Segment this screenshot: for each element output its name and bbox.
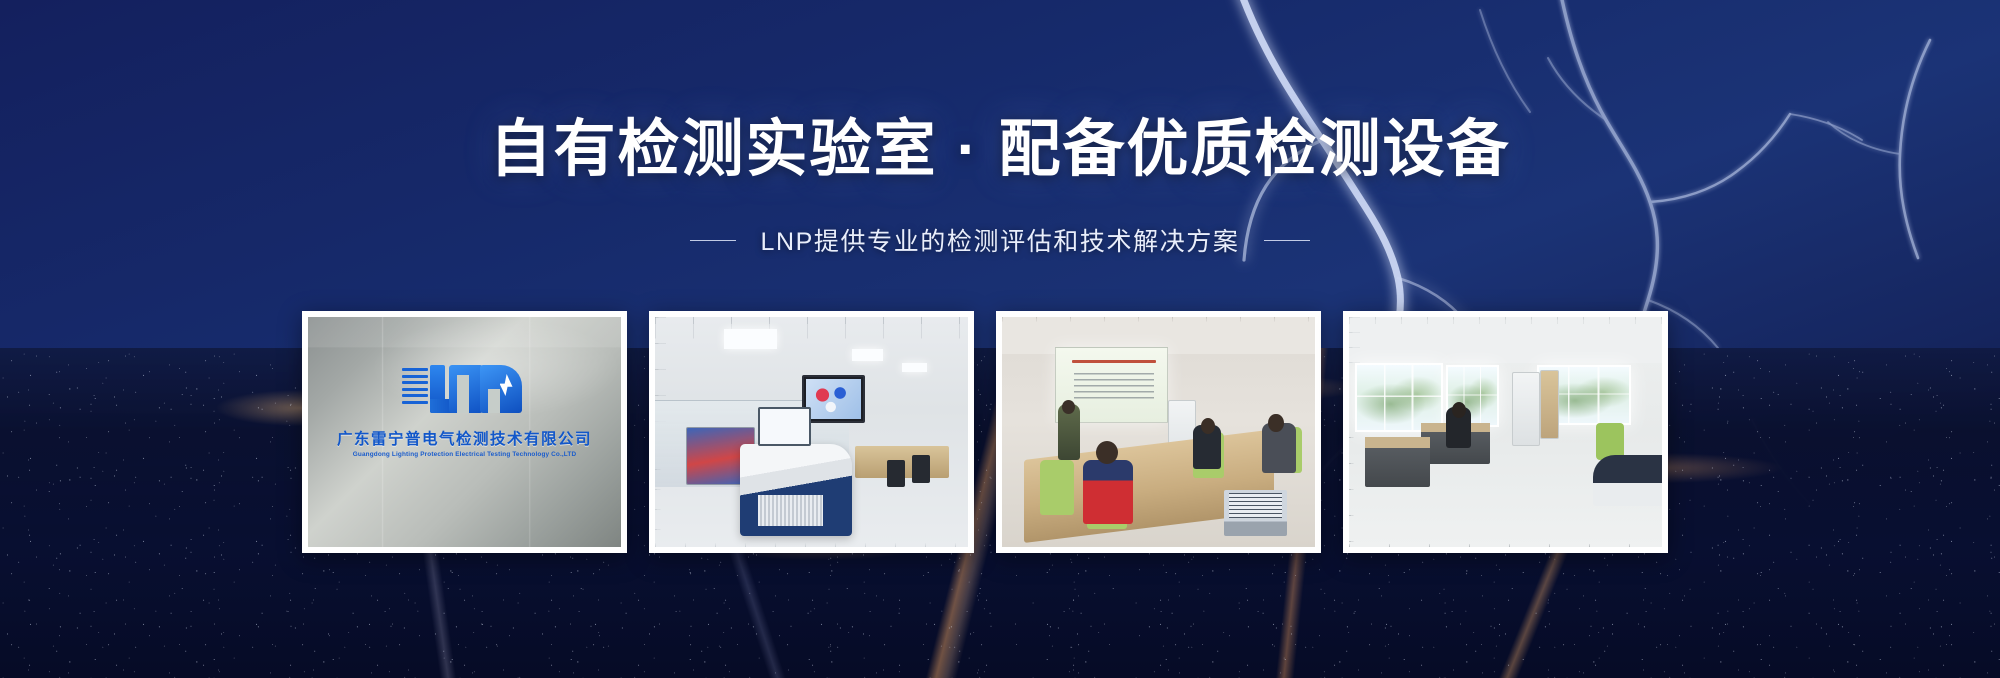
company-name-cn: 广东雷宁普电气检测技术有限公司	[308, 427, 621, 449]
page-subtitle: LNP提供专业的检测评估和技术解决方案	[760, 222, 1239, 258]
attendee-person	[1083, 460, 1133, 524]
photo-gallery: 广东雷宁普电气检测技术有限公司 Guangdong Lighting Prote…	[302, 311, 1668, 553]
laptop	[1224, 490, 1287, 536]
subtitle-row: LNP提供专业的检测评估和技术解决方案	[0, 222, 2000, 258]
lab-chair	[887, 460, 906, 488]
ceiling-light	[724, 329, 777, 350]
wall-monitor	[802, 375, 865, 423]
logo-block: 广东雷宁普电气检测技术有限公司 Guangdong Lighting Prote…	[308, 363, 621, 458]
office-area-photo	[1349, 317, 1662, 547]
meeting-room-photo	[1002, 317, 1315, 547]
presenter-head	[1062, 400, 1075, 414]
left-rule-icon	[690, 240, 736, 241]
meeting-chair	[1040, 460, 1074, 515]
right-rule-icon	[1264, 240, 1310, 241]
ceiling-light	[902, 363, 927, 372]
control-console	[740, 444, 853, 536]
lnp-logo-icon	[402, 363, 528, 415]
page-title: 自有检测实验室 · 配备优质检测设备	[0, 116, 2000, 184]
hero-banner: 自有检测实验室 · 配备优质检测设备 LNP提供专业的检测评估和技术解决方案 广…	[0, 0, 2000, 678]
testing-laboratory-photo	[655, 317, 968, 547]
office-cabinet	[1512, 372, 1540, 446]
company-name-en: Guangdong Lighting Protection Electrical…	[308, 451, 621, 458]
gallery-item-office-area[interactable]	[1343, 311, 1668, 553]
office-window	[1355, 363, 1443, 432]
console-monitor	[758, 407, 811, 446]
reception-counter	[1593, 455, 1662, 506]
ceiling-light	[852, 349, 883, 361]
office-desk	[1365, 437, 1431, 488]
office-ceiling	[1349, 317, 1662, 363]
attendee-head	[1096, 441, 1118, 464]
lab-chair	[912, 455, 931, 483]
gallery-item-testing-laboratory[interactable]	[649, 311, 974, 553]
gallery-item-company-logo-wall[interactable]: 广东雷宁普电气检测技术有限公司 Guangdong Lighting Prote…	[302, 311, 627, 553]
office-shelf	[1540, 370, 1559, 439]
attendee-head	[1268, 414, 1284, 432]
company-logo-wall-photo: 广东雷宁普电气检测技术有限公司 Guangdong Lighting Prote…	[308, 317, 621, 547]
gallery-item-meeting-room[interactable]	[996, 311, 1321, 553]
attendee-head	[1201, 418, 1215, 434]
